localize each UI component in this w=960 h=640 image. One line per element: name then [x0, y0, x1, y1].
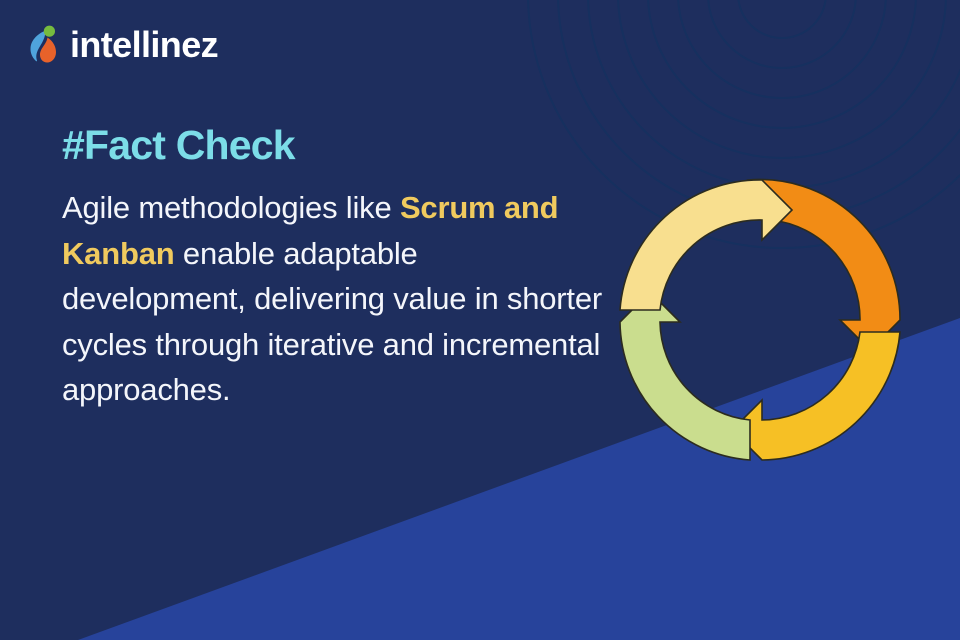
brand-logo[interactable]: intellinez: [26, 22, 218, 68]
logo-green-dot: [44, 26, 55, 37]
body-copy: Agile methodologies like Scrum and Kanba…: [62, 185, 602, 413]
text-block: #Fact Check Agile methodologies like Scr…: [62, 124, 602, 413]
segment-gold: [732, 332, 900, 460]
body-copy-lead: Agile methodologies like: [62, 190, 392, 225]
poster-canvas: intellinez #Fact Check Agile methodologi…: [0, 0, 960, 640]
iterative-cycle-diagram: [612, 172, 908, 468]
brand-wordmark: intellinez: [70, 27, 218, 63]
segment-green: [620, 292, 750, 460]
intellinez-droplet-logo-icon: [26, 23, 66, 67]
page-title: #Fact Check: [62, 124, 602, 167]
segment-pale-yellow: [620, 180, 792, 310]
